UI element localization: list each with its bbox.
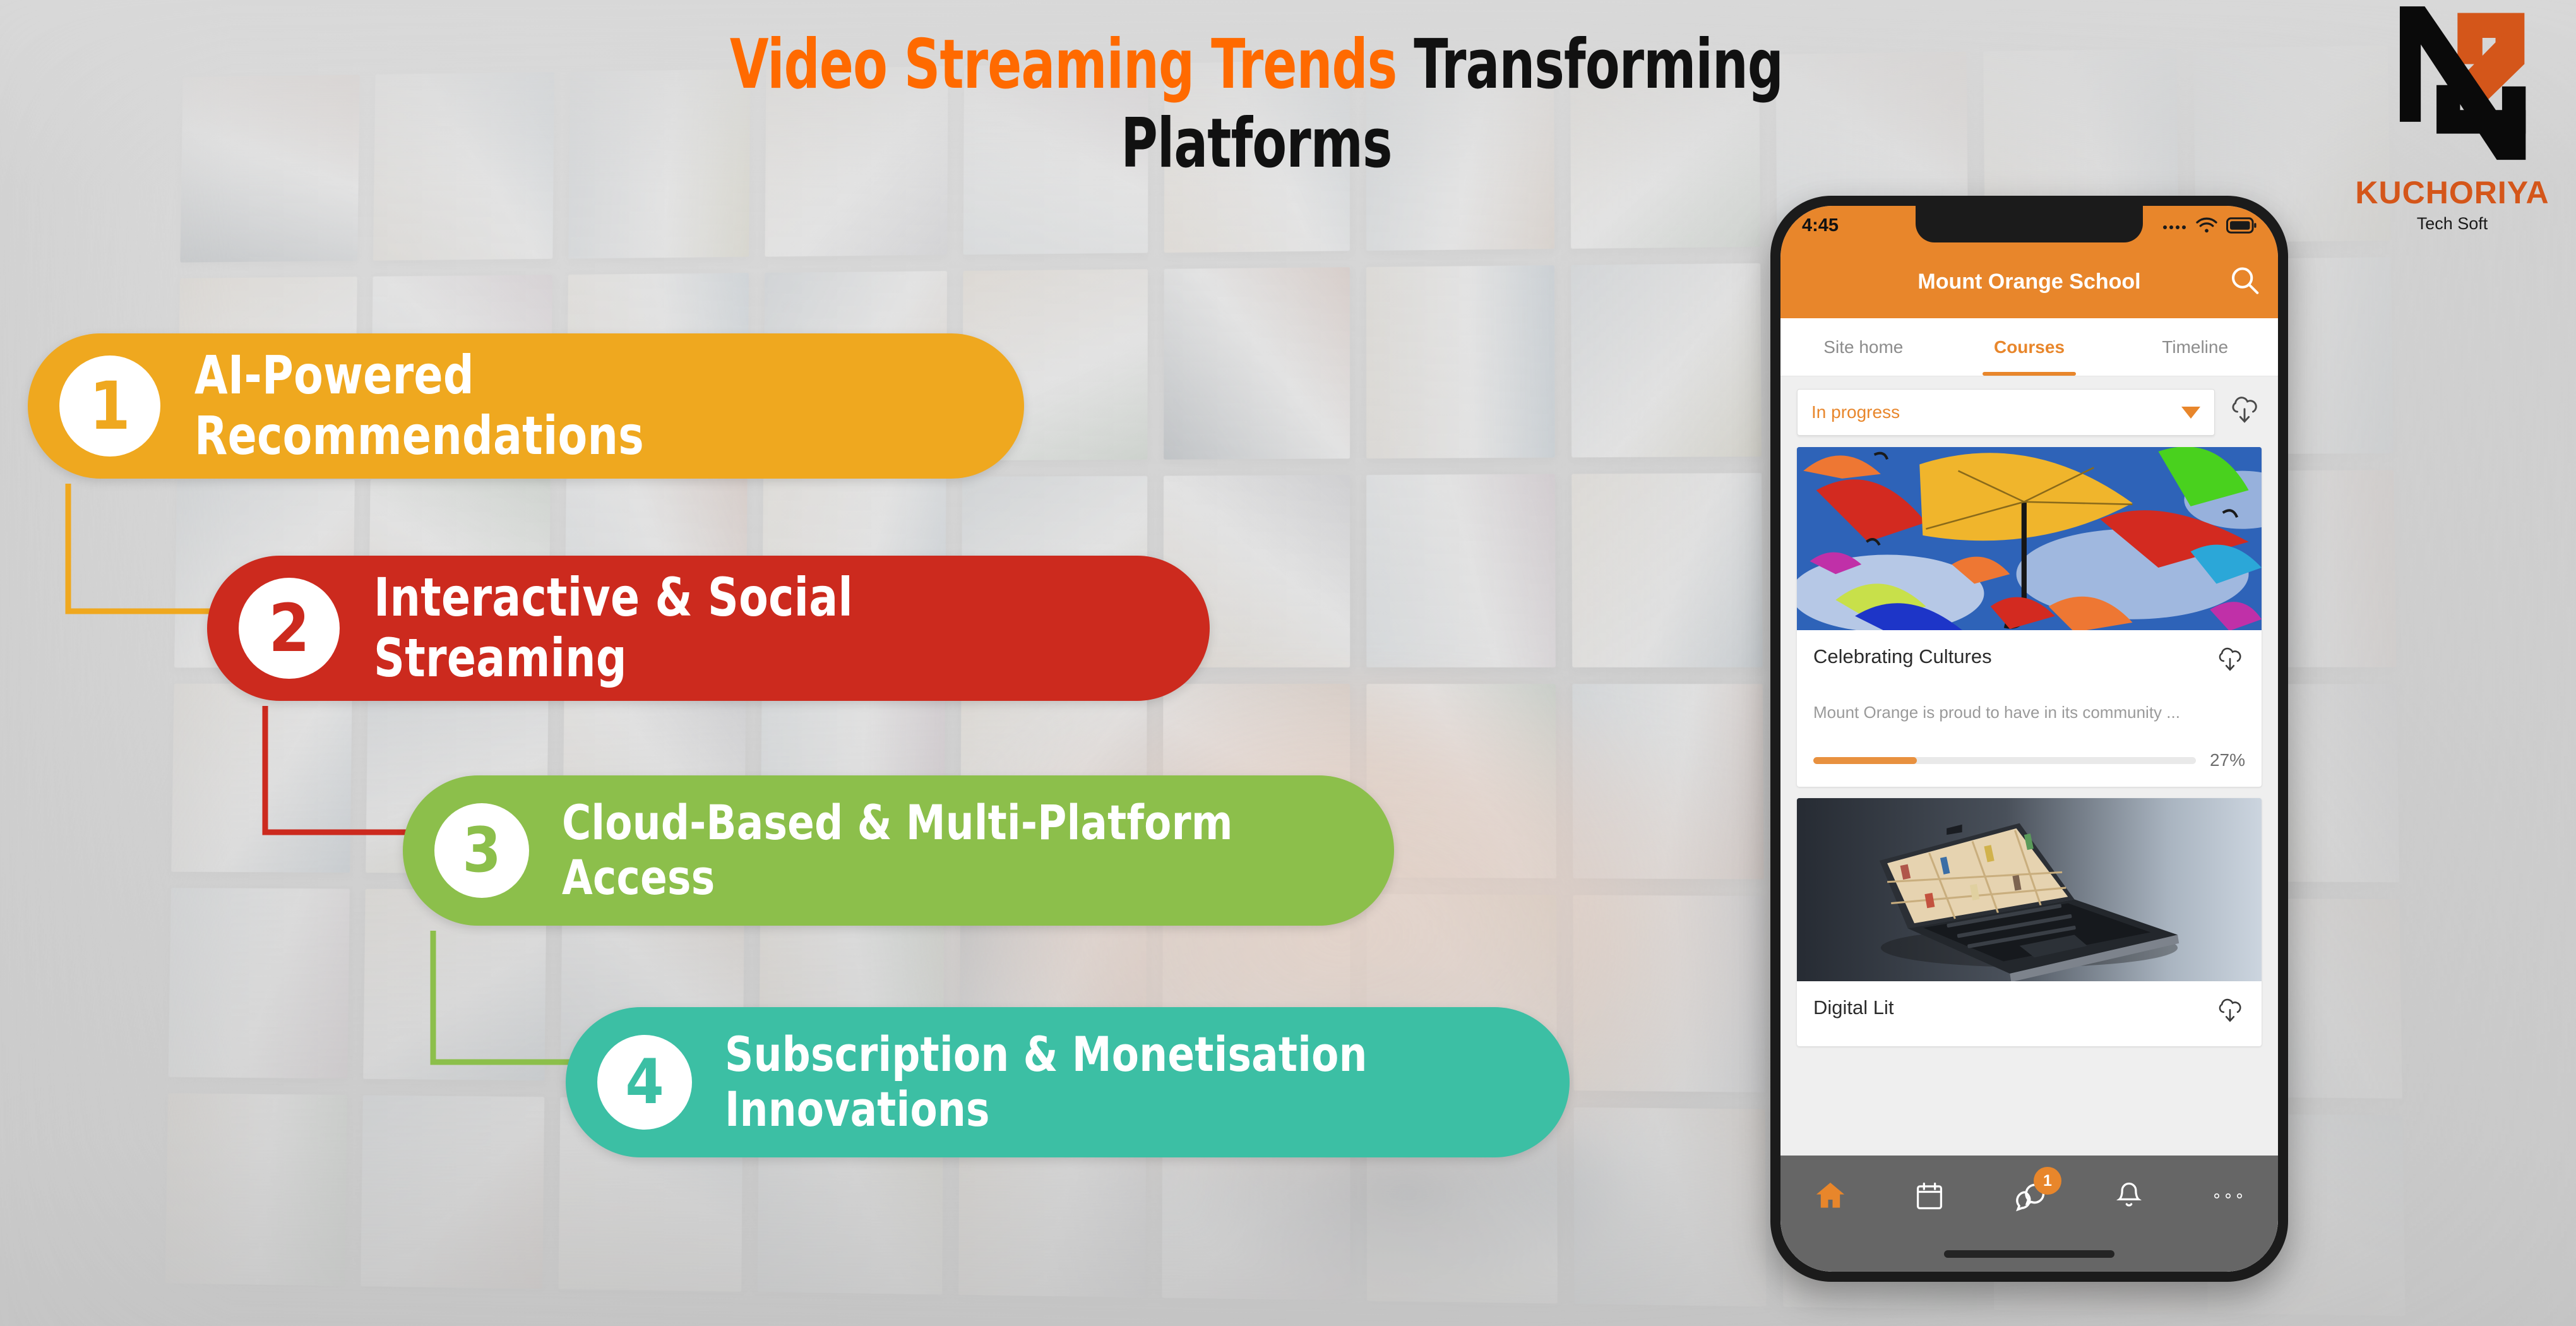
calendar-icon <box>1913 1180 1946 1212</box>
phone-screen: 4:45 Mount Orange School <box>1780 206 2278 1272</box>
step-item-4[interactable]: 4 Subscription & Monetisation Innovation… <box>566 1007 1570 1157</box>
course-title: Digital Lit <box>1813 996 1894 1019</box>
home-icon <box>1813 1178 1848 1214</box>
progress-bar <box>1813 757 2196 764</box>
kuchoriya-monogram-icon <box>2373 4 2531 174</box>
step-number-badge: 1 <box>59 355 160 457</box>
more-icon <box>2210 1190 2246 1202</box>
tab-timeline[interactable]: Timeline <box>2112 318 2278 376</box>
status-bar-time: 4:45 <box>1802 215 1839 236</box>
nav-item-messages[interactable]: 1 <box>2001 1172 2058 1220</box>
bottom-nav: 1 <box>1780 1156 2278 1272</box>
colorful-umbrellas-image <box>1797 447 2262 630</box>
app-bar: Mount Orange School <box>1780 245 2278 318</box>
step-item-1[interactable]: 1 AI-Powered Recommendations <box>28 333 1024 479</box>
cloud-download-icon[interactable] <box>2227 394 2262 431</box>
wifi-icon <box>2195 216 2219 235</box>
signal-dots-icon <box>2162 220 2187 230</box>
step-number-badge: 2 <box>239 578 340 679</box>
logo-tagline: Tech Soft <box>2345 214 2560 234</box>
logo-brand-name: KUCHORIYA <box>2345 177 2560 208</box>
step-item-3[interactable]: 3 Cloud-Based & Multi-Platform Access <box>403 775 1394 926</box>
battery-icon <box>2226 217 2257 234</box>
step-label: Interactive & Social Streaming <box>374 568 1104 689</box>
filter-row: In progress <box>1780 376 2278 447</box>
course-card[interactable]: Digital Lit <box>1797 798 2262 1046</box>
page-title: Video Streaming Trends Transforming Plat… <box>692 25 1821 184</box>
progress-percent: 27% <box>2210 750 2245 770</box>
company-logo: KUCHORIYA Tech Soft <box>2345 4 2560 234</box>
step-number-badge: 4 <box>597 1035 692 1130</box>
step-label: AI-Powered Recommendations <box>194 345 919 467</box>
phone-mockup: 4:45 Mount Orange School <box>1770 196 2288 1282</box>
tab-courses[interactable]: Courses <box>1947 318 2113 376</box>
messages-badge: 1 <box>2034 1167 2061 1195</box>
course-description: Mount Orange is proud to have in its com… <box>1813 703 2245 722</box>
course-filter-select[interactable]: In progress <box>1797 389 2215 436</box>
course-thumbnail <box>1797 447 2262 630</box>
step-label: Subscription & Monetisation Innovations <box>725 1027 1479 1137</box>
course-card[interactable]: Celebrating Cultures Mount Orange is pro… <box>1797 447 2262 787</box>
step-label: Cloud-Based & Multi-Platform Access <box>562 796 1304 905</box>
home-indicator <box>1944 1250 2114 1258</box>
nav-item-calendar[interactable] <box>1901 1172 1958 1220</box>
cloud-download-icon[interactable] <box>2215 996 2245 1030</box>
tab-site-home[interactable]: Site home <box>1780 318 1947 376</box>
step-number-badge: 3 <box>434 803 529 898</box>
step-item-2[interactable]: 2 Interactive & Social Streaming <box>207 556 1210 701</box>
nav-item-home[interactable] <box>1802 1172 1859 1220</box>
page-title-highlight: Video Streaming Trends <box>730 25 1397 104</box>
phone-notch <box>1916 206 2143 242</box>
app-bar-title: Mount Orange School <box>1917 270 2140 294</box>
course-title: Celebrating Cultures <box>1813 645 1992 668</box>
nav-tabs: Site home Courses Timeline <box>1780 318 2278 376</box>
search-icon[interactable] <box>2227 263 2262 301</box>
chevron-down-icon <box>2181 407 2200 419</box>
nav-item-notifications[interactable] <box>2101 1172 2157 1220</box>
cloud-download-icon[interactable] <box>2215 645 2245 679</box>
course-filter-value: In progress <box>1811 402 1900 422</box>
course-feed[interactable]: Celebrating Cultures Mount Orange is pro… <box>1780 447 2278 1272</box>
nav-item-more[interactable] <box>2200 1172 2257 1220</box>
bell-icon <box>2113 1180 2145 1212</box>
laptop-bookshelf-image <box>1797 798 2262 981</box>
course-thumbnail <box>1797 798 2262 981</box>
course-progress: 27% <box>1813 750 2245 770</box>
